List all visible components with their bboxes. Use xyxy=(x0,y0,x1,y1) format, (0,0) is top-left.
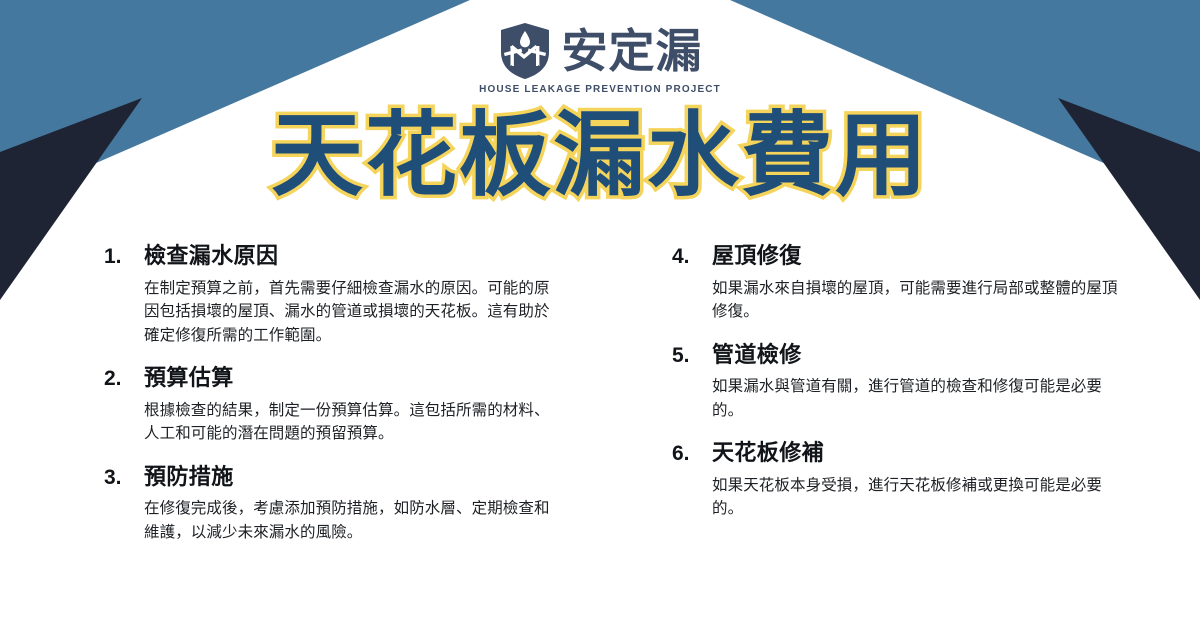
list-item: 5. 管道檢修 如果漏水與管道有關，進行管道的檢查和修復可能是必要的。 xyxy=(672,342,1156,423)
page-title-text: 天花板漏水費用 xyxy=(271,108,929,205)
page-title: 天花板漏水費用 xyxy=(0,108,1200,205)
logo-wordmark: 安定漏 xyxy=(562,28,703,74)
list-item-heading: 5. 管道檢修 xyxy=(672,342,1156,370)
list-item-body: 根據檢查的結果，制定一份預算估算。這包括所需的材料、人工和可能的潛在問題的預留預… xyxy=(144,399,564,446)
list-item: 4. 屋頂修復 如果漏水來自損壞的屋頂，可能需要進行局部或整體的屋頂修復。 xyxy=(672,243,1156,324)
list-item-number: 1. xyxy=(104,244,144,270)
shield-water-drop-icon xyxy=(498,22,552,80)
list-item-body: 如果漏水與管道有關，進行管道的檢查和修復可能是必要的。 xyxy=(712,375,1122,422)
list-item-title: 檢查漏水原因 xyxy=(144,243,278,271)
list-item-heading: 2. 預算估算 xyxy=(104,365,630,393)
list-item-number: 6. xyxy=(672,441,712,467)
logo-tagline: HOUSE LEAKAGE PREVENTION PROJECT xyxy=(479,84,721,95)
list-item-number: 4. xyxy=(672,244,712,270)
list-item-heading: 1. 檢查漏水原因 xyxy=(104,243,630,271)
content-columns: 1. 檢查漏水原因 在制定預算之前，首先需要仔細檢查漏水的原因。可能的原因包括損… xyxy=(0,243,1200,593)
list-item-title: 預算估算 xyxy=(144,365,234,393)
poster-canvas: 安定漏 HOUSE LEAKAGE PREVENTION PROJECT 天花板… xyxy=(0,0,1200,630)
list-item: 3. 預防措施 在修復完成後，考慮添加預防措施，如防水層、定期檢查和維護，以減少… xyxy=(104,464,630,545)
list-item-number: 3. xyxy=(104,465,144,491)
list-item: 1. 檢查漏水原因 在制定預算之前，首先需要仔細檢查漏水的原因。可能的原因包括損… xyxy=(104,243,630,347)
list-item-body: 在修復完成後，考慮添加預防措施，如防水層、定期檢查和維護，以減少未來漏水的風險。 xyxy=(144,497,564,544)
list-item-title: 預防措施 xyxy=(144,464,234,492)
list-item-body: 如果漏水來自損壞的屋頂，可能需要進行局部或整體的屋頂修復。 xyxy=(712,277,1122,324)
list-item-heading: 4. 屋頂修復 xyxy=(672,243,1156,271)
list-item-heading: 6. 天花板修補 xyxy=(672,440,1156,468)
list-item-number: 2. xyxy=(104,366,144,392)
list-item-heading: 3. 預防措施 xyxy=(104,464,630,492)
list-item-number: 5. xyxy=(672,343,712,369)
list-column-left: 1. 檢查漏水原因 在制定預算之前，首先需要仔細檢查漏水的原因。可能的原因包括損… xyxy=(104,243,630,593)
list-item-title: 天花板修補 xyxy=(712,440,824,468)
list-item-body: 如果天花板本身受損，進行天花板修補或更換可能是必要的。 xyxy=(712,474,1122,521)
list-item-body: 在制定預算之前，首先需要仔細檢查漏水的原因。可能的原因包括損壞的屋頂、漏水的管道… xyxy=(144,277,564,348)
logo-row: 安定漏 xyxy=(498,22,703,80)
list-column-right: 4. 屋頂修復 如果漏水來自損壞的屋頂，可能需要進行局部或整體的屋頂修復。 5.… xyxy=(630,243,1156,593)
brand-logo: 安定漏 HOUSE LEAKAGE PREVENTION PROJECT xyxy=(0,22,1200,95)
list-item: 6. 天花板修補 如果天花板本身受損，進行天花板修補或更換可能是必要的。 xyxy=(672,440,1156,521)
list-item: 2. 預算估算 根據檢查的結果，制定一份預算估算。這包括所需的材料、人工和可能的… xyxy=(104,365,630,446)
list-item-title: 屋頂修復 xyxy=(712,243,802,271)
list-item-title: 管道檢修 xyxy=(712,342,802,370)
